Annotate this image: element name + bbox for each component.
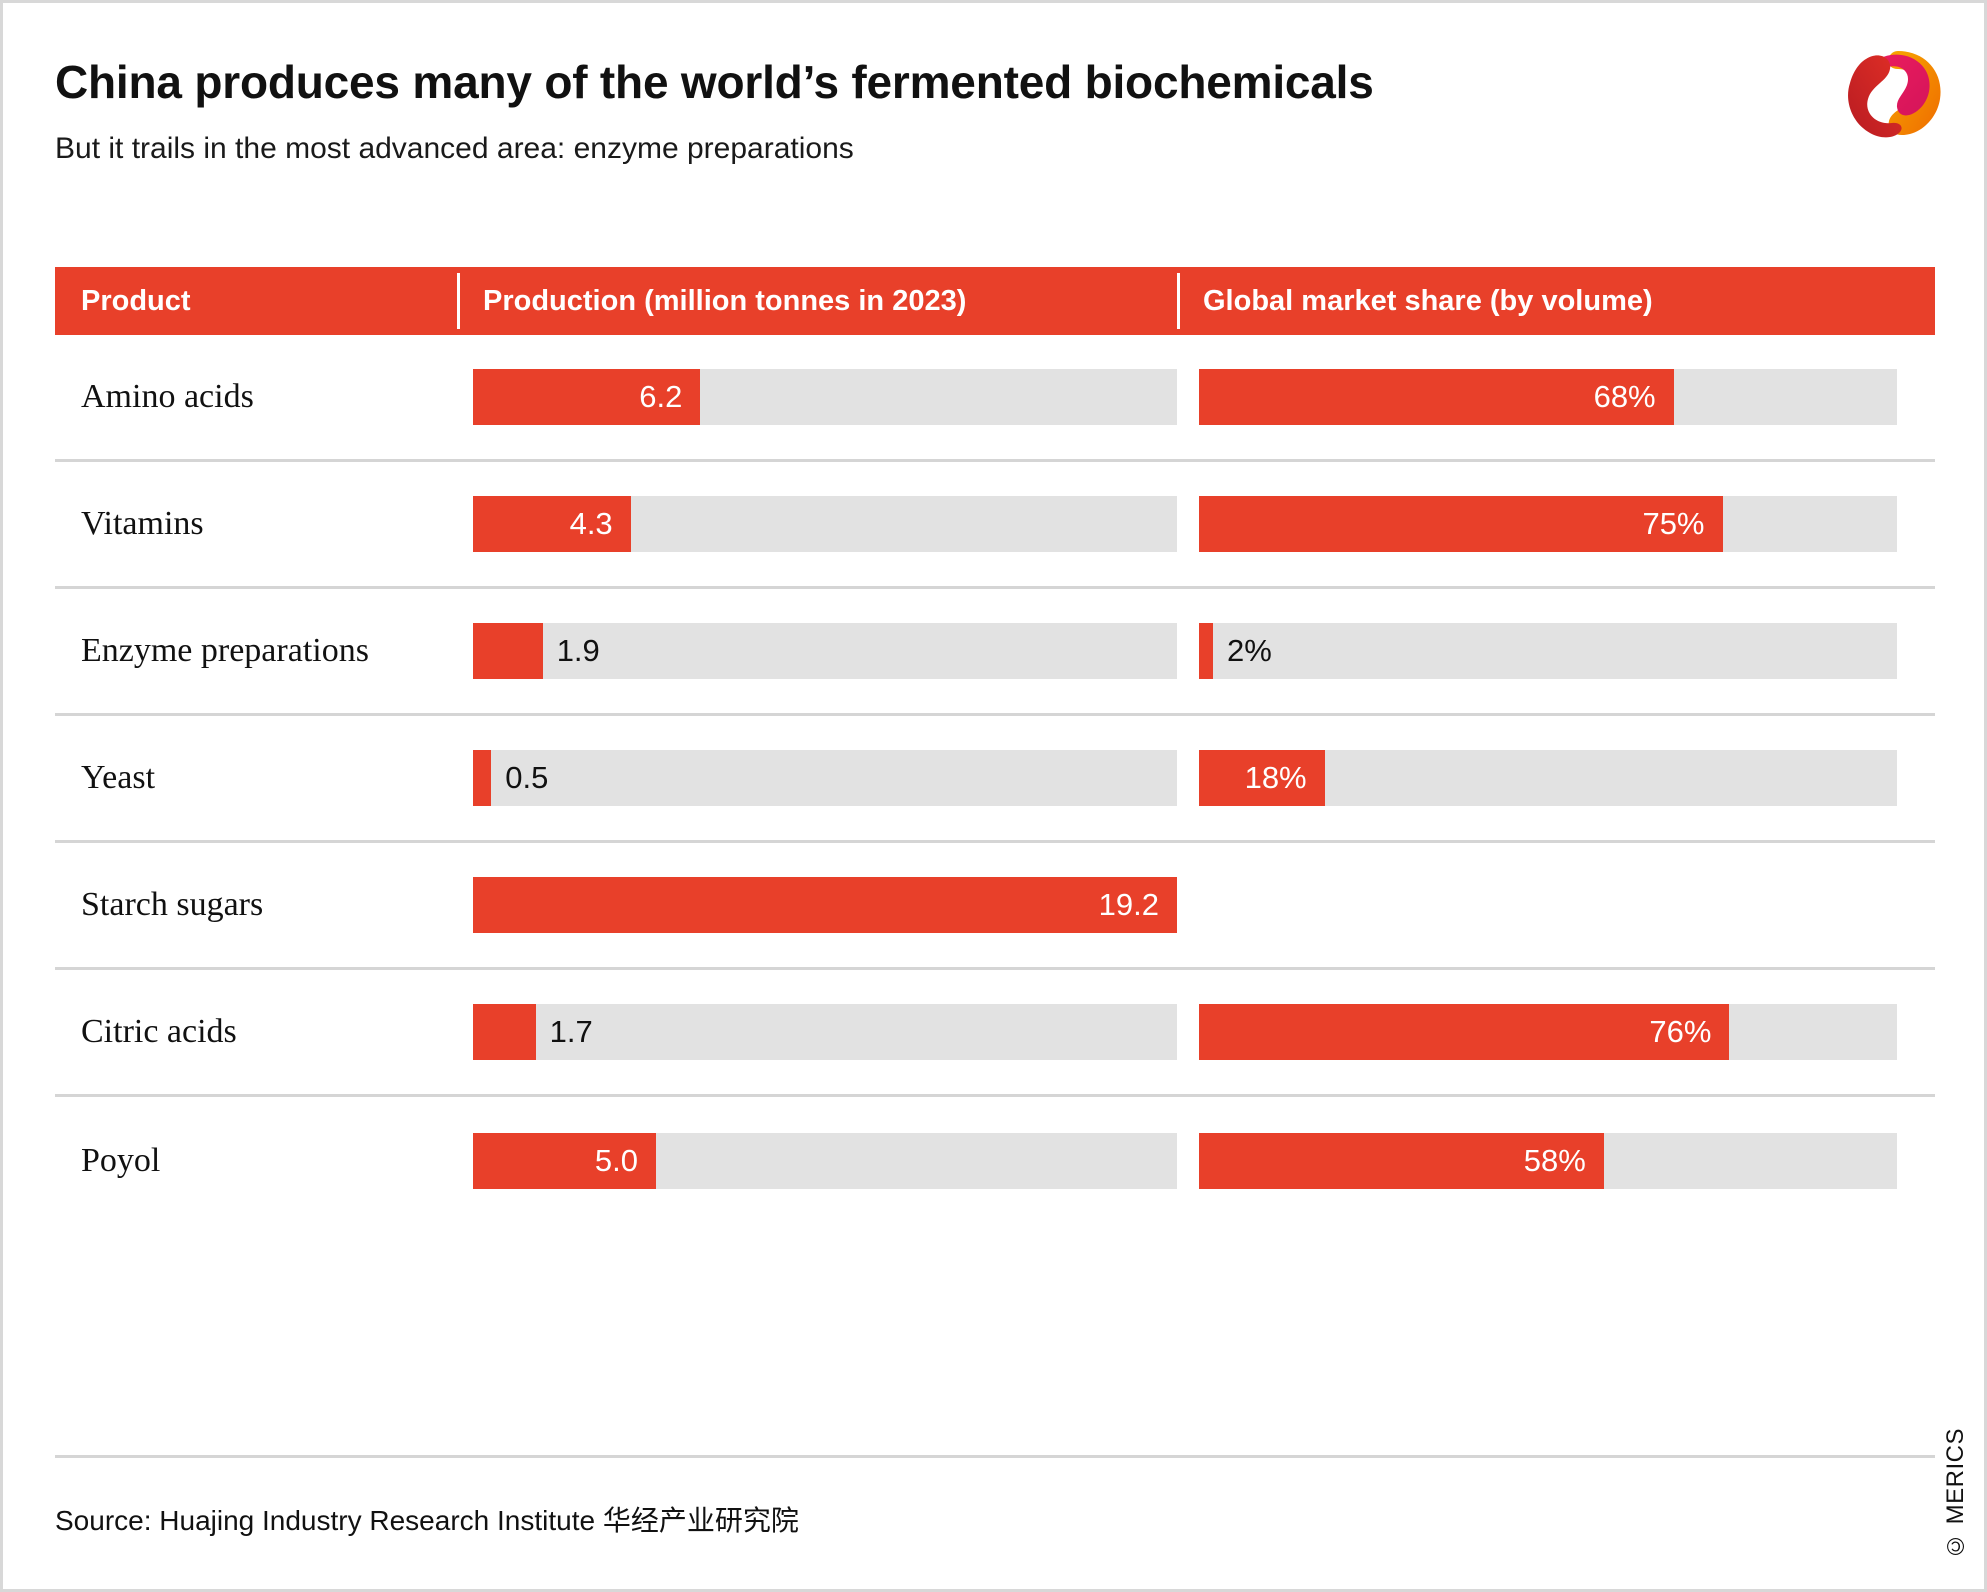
market-share-bar-cell: 75%: [1199, 461, 1897, 588]
production-bar-cell: 19.2: [473, 842, 1177, 969]
column-header-production: Production (million tonnes in 2023): [457, 267, 1177, 335]
product-label: Vitamins: [55, 502, 457, 546]
table-row: Starch sugars19.2: [55, 843, 1935, 970]
market-share-bar-track: 75%: [1199, 496, 1897, 552]
production-bar-fill: [473, 750, 491, 806]
market-share-bar-track: [1199, 877, 1897, 933]
page-title: China produces many of the world’s ferme…: [55, 57, 1755, 109]
column-header-market-share: Global market share (by volume): [1177, 267, 1897, 335]
market-share-bar-track: 2%: [1199, 623, 1897, 679]
market-share-bar-track: 76%: [1199, 1004, 1897, 1060]
production-bar-cell: 1.9: [473, 588, 1177, 715]
production-bar-fill: [473, 1004, 536, 1060]
market-share-bar-value: 58%: [1199, 1133, 1604, 1189]
product-label: Enzyme preparations: [55, 629, 457, 673]
market-share-bar-value: 75%: [1199, 496, 1723, 552]
production-bar-cell: 5.0: [473, 1097, 1177, 1224]
footer-divider: [55, 1455, 1935, 1458]
market-share-bar-track: 18%: [1199, 750, 1897, 806]
production-bar-track: 0.5: [473, 750, 1177, 806]
market-share-bar-cell: 58%: [1199, 1097, 1897, 1224]
production-bar-cell: 0.5: [473, 715, 1177, 842]
product-label: Yeast: [55, 756, 457, 800]
market-share-bar-cell: 2%: [1199, 588, 1897, 715]
market-share-bar-cell: 68%: [1199, 334, 1897, 461]
market-share-bar-value: 68%: [1199, 369, 1674, 425]
product-label: Starch sugars: [55, 883, 457, 927]
market-share-bar-cell: 76%: [1199, 969, 1897, 1096]
table-row: Citric acids1.776%: [55, 970, 1935, 1097]
production-bar-value: 6.2: [473, 369, 700, 425]
production-bar-track: 1.7: [473, 1004, 1177, 1060]
market-share-bar-cell: [1199, 842, 1897, 969]
table-header-row: Product Production (million tonnes in 20…: [55, 267, 1935, 335]
production-bar-fill: [473, 623, 543, 679]
market-share-bar-value: 76%: [1199, 1004, 1729, 1060]
table-row: Enzyme preparations1.92%: [55, 589, 1935, 716]
data-table: Product Production (million tonnes in 20…: [55, 267, 1935, 1224]
table-row: Vitamins4.375%: [55, 462, 1935, 589]
production-bar-value: 1.9: [543, 623, 600, 679]
header: China produces many of the world’s ferme…: [55, 57, 1755, 167]
market-share-bar-value: 18%: [1199, 750, 1325, 806]
column-header-product: Product: [55, 267, 457, 335]
production-bar-value: 1.7: [536, 1004, 593, 1060]
product-label: Amino acids: [55, 375, 457, 419]
production-bar-track: 1.9: [473, 623, 1177, 679]
production-bar-value: 5.0: [473, 1133, 656, 1189]
market-share-bar-value: 2%: [1213, 623, 1272, 679]
source-note: Source: Huajing Industry Research Instit…: [55, 1499, 799, 1539]
chart-page: China produces many of the world’s ferme…: [0, 0, 1987, 1592]
production-bar-track: 6.2: [473, 369, 1177, 425]
production-bar-value: 19.2: [473, 877, 1177, 933]
market-share-bar-track: 58%: [1199, 1133, 1897, 1189]
table-row: Poyol5.058%: [55, 1097, 1935, 1224]
production-bar-track: 5.0: [473, 1133, 1177, 1189]
market-share-bar-track: 68%: [1199, 369, 1897, 425]
production-bar-cell: 6.2: [473, 334, 1177, 461]
production-bar-value: 0.5: [491, 750, 548, 806]
market-share-bar-fill: [1199, 623, 1213, 679]
production-bar-value: 4.3: [473, 496, 631, 552]
header-spacer: [1897, 267, 1935, 335]
production-bar-track: 4.3: [473, 496, 1177, 552]
merics-logo: [1842, 45, 1946, 141]
table-row: Yeast0.518%: [55, 716, 1935, 843]
production-bar-track: 19.2: [473, 877, 1177, 933]
production-bar-cell: 1.7: [473, 969, 1177, 1096]
production-bar-cell: 4.3: [473, 461, 1177, 588]
product-label: Poyol: [55, 1139, 457, 1183]
table-row: Amino acids6.268%: [55, 335, 1935, 462]
market-share-bar-cell: 18%: [1199, 715, 1897, 842]
table-body: Amino acids6.268%Vitamins4.375%Enzyme pr…: [55, 335, 1935, 1224]
product-label: Citric acids: [55, 1010, 457, 1054]
page-subtitle: But it trails in the most advanced area:…: [55, 131, 1755, 167]
copyright-label: © MERICS: [1942, 1428, 1970, 1559]
